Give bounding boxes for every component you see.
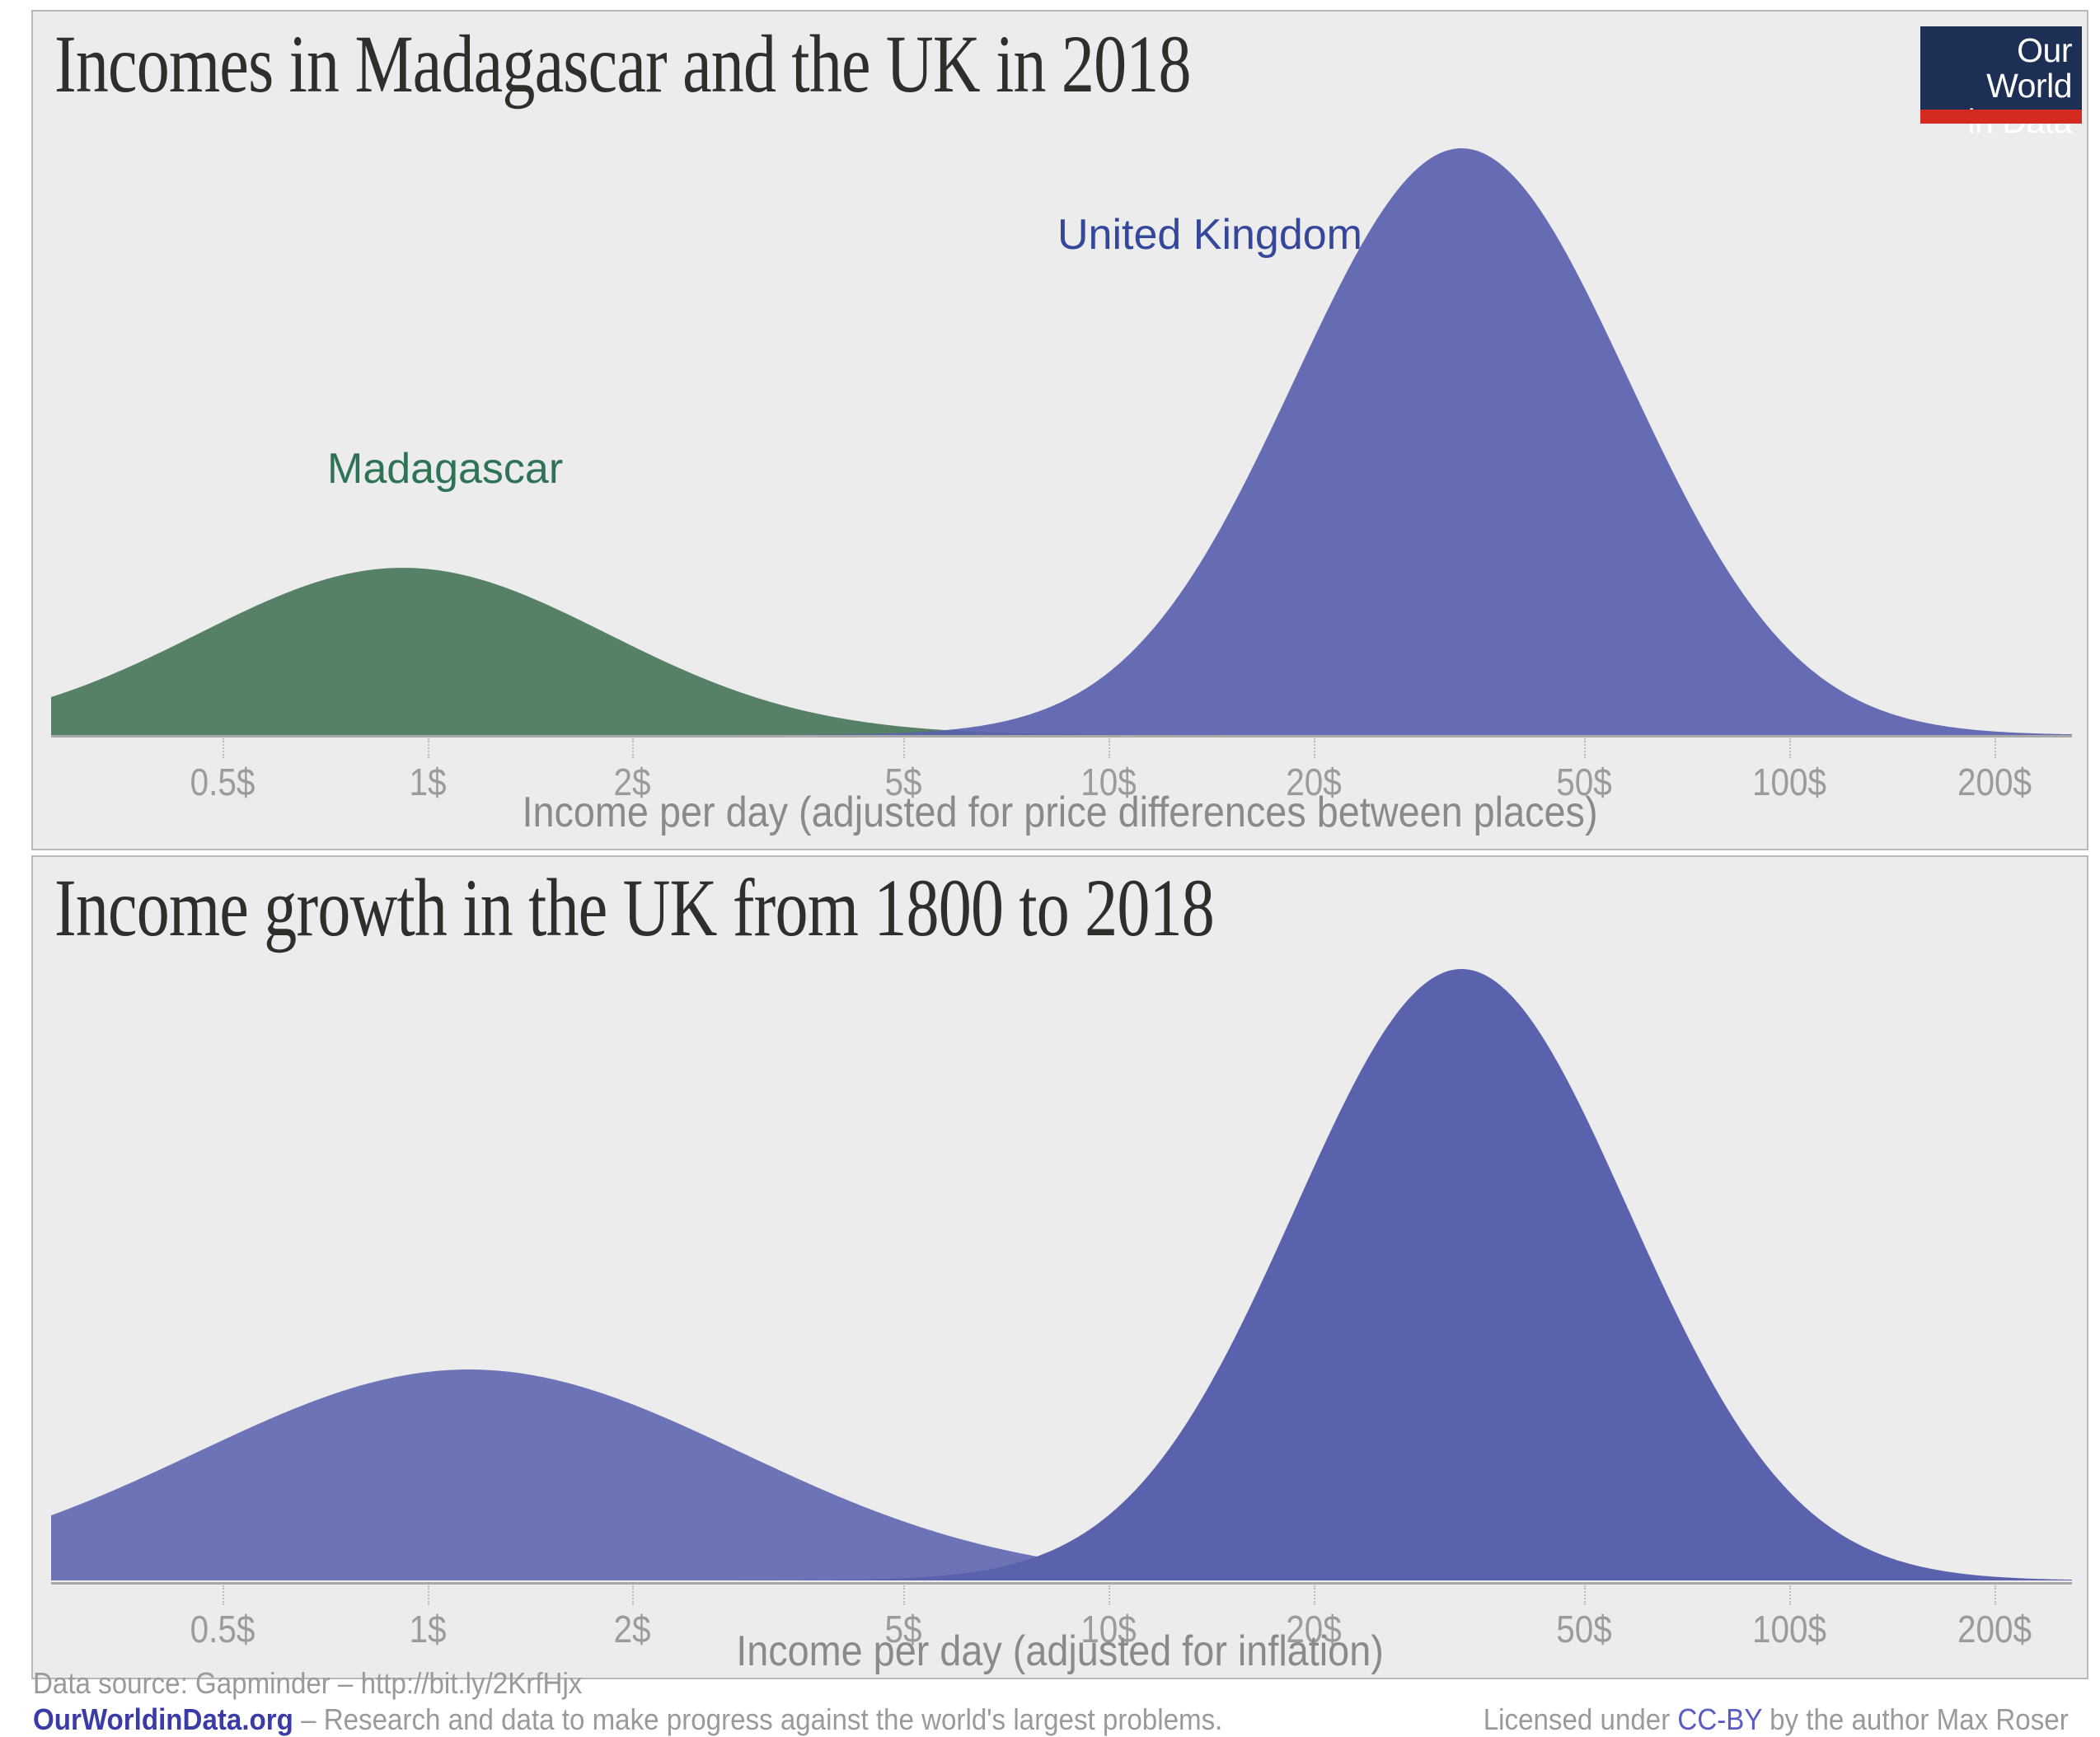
x-tick-mark bbox=[1314, 738, 1315, 758]
x-tick-mark bbox=[1584, 1585, 1586, 1605]
footer-tagline: – Research and data to make progress aga… bbox=[293, 1702, 1222, 1736]
x-axis-line bbox=[51, 735, 2072, 737]
license-prefix: Licensed under bbox=[1484, 1702, 1678, 1736]
chart-panel-incomes-2018: Incomes in Madagascar and the UK in 2018… bbox=[31, 10, 2088, 850]
footer-data-source: Data source: Gapminder – http://bit.ly/2… bbox=[33, 1666, 582, 1701]
x-tick-mark bbox=[1995, 1585, 1996, 1605]
x-tick-mark bbox=[1789, 738, 1791, 758]
owid-website-link[interactable]: OurWorldinData.org bbox=[33, 1702, 293, 1736]
x-axis-title-top: Income per day (adjusted for price diffe… bbox=[136, 788, 1985, 837]
logo-line-1: Our World bbox=[1986, 31, 2072, 105]
logo-red-bar bbox=[1920, 110, 2082, 124]
x-tick-mark bbox=[428, 1585, 429, 1605]
x-tick-mark bbox=[903, 738, 905, 758]
series-label-madagascar: Madagascar bbox=[327, 443, 563, 494]
x-tick-mark bbox=[428, 738, 429, 758]
x-tick-mark bbox=[1314, 1585, 1315, 1605]
x-tick-mark bbox=[1584, 738, 1586, 758]
chart-title-top: Incomes in Madagascar and the UK in 2018 bbox=[54, 16, 1191, 111]
x-tick-mark bbox=[1995, 738, 1996, 758]
our-world-in-data-logo: Our Worldin Data bbox=[1920, 26, 2082, 124]
x-tick-mark bbox=[632, 738, 634, 758]
footer: Data source: Gapminder – http://bit.ly/2… bbox=[33, 1666, 2069, 1727]
chart-panel-income-growth: Income growth in the UK from 1800 to 201… bbox=[31, 855, 2088, 1679]
x-tick-mark bbox=[223, 738, 224, 758]
x-tick-mark bbox=[223, 1585, 224, 1605]
x-tick-mark bbox=[1109, 738, 1110, 758]
footer-license: Licensed under CC-BY by the author Max R… bbox=[1484, 1702, 2069, 1737]
series-label-united-kingdom: United Kingdom bbox=[1057, 209, 1362, 260]
x-tick-mark bbox=[1109, 1585, 1110, 1605]
x-axis-line bbox=[51, 1582, 2072, 1585]
x-tick-mark bbox=[1789, 1585, 1791, 1605]
chart-title-bottom: Income growth in the UK from 1800 to 201… bbox=[54, 860, 1214, 955]
cc-by-link[interactable]: CC-BY bbox=[1678, 1702, 1762, 1736]
footer-owid-line: OurWorldinData.org – Research and data t… bbox=[33, 1702, 1222, 1737]
x-tick-mark bbox=[903, 1585, 905, 1605]
license-suffix: by the author Max Roser bbox=[1762, 1702, 2069, 1736]
infographic-root: Incomes in Madagascar and the UK in 2018… bbox=[0, 0, 2100, 1730]
distribution-plot-bottom bbox=[33, 956, 2087, 1615]
x-tick-mark bbox=[632, 1585, 634, 1605]
